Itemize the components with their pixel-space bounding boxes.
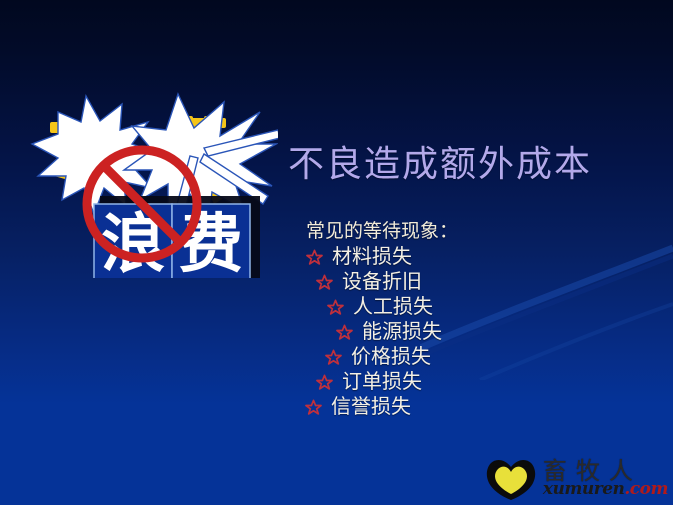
watermark-domain: .com	[624, 479, 668, 499]
watermark-text: 畜牧人 xumuren.com	[543, 459, 668, 498]
list-item: 能源损失	[292, 319, 622, 344]
waste-prohibition-graphic: 浪 费	[28, 78, 278, 278]
list-item-label: 价格损失	[351, 344, 431, 369]
list-item-label: 人工损失	[353, 294, 433, 319]
star-outline-icon	[306, 249, 323, 266]
list-item-label: 设备折旧	[342, 269, 422, 294]
star-outline-icon	[325, 349, 342, 366]
star-outline-icon	[316, 274, 333, 291]
box-char-2: 费	[179, 207, 243, 278]
list-item-label: 信誉损失	[331, 394, 411, 419]
list-item-label: 材料损失	[332, 244, 412, 269]
list-item: 人工损失	[292, 294, 622, 319]
list-item: 订单损失	[292, 369, 622, 394]
list-item-label: 订单损失	[342, 369, 422, 394]
star-outline-icon	[336, 324, 353, 341]
list-item: 设备折旧	[292, 269, 622, 294]
page-title: 不良造成额外成本	[288, 144, 592, 186]
watermark-en: xumuren.com	[543, 481, 668, 498]
heart-logo-icon	[483, 457, 539, 501]
watermark-en-name: xumuren	[543, 479, 624, 499]
star-outline-icon	[316, 374, 333, 391]
content-lead: 常见的等待现象：	[306, 218, 622, 244]
list-item: 信誉损失	[292, 394, 622, 419]
list-item: 价格损失	[292, 344, 622, 369]
list-item-label: 能源损失	[362, 319, 442, 344]
list-item: 材料损失	[292, 244, 622, 269]
star-outline-icon	[305, 399, 322, 416]
watermark: 畜牧人 xumuren.com	[483, 456, 668, 502]
slide-canvas: 浪 费 不良造成额外成本 常见的等待现象： 材料损失	[0, 0, 673, 505]
star-outline-icon	[327, 299, 344, 316]
content-block: 常见的等待现象： 材料损失 设备折旧 人工损失	[292, 218, 622, 419]
